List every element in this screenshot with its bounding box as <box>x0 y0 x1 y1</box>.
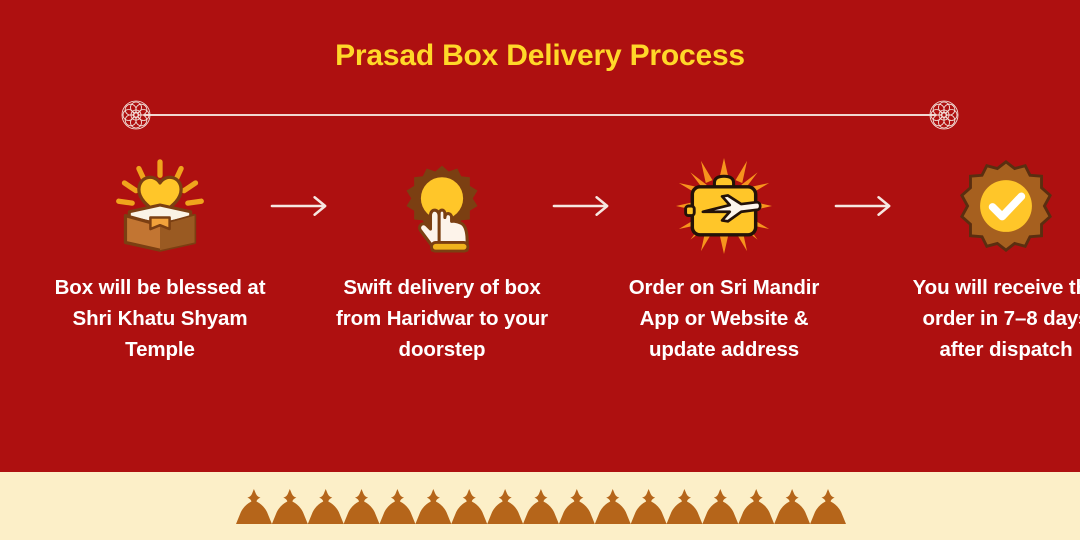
arrow-right-icon <box>264 158 338 254</box>
arrow-right-icon <box>828 158 902 254</box>
process-step-4: You will receive the order in 7–8 days a… <box>902 158 1080 365</box>
rosette-mandala-icon <box>120 99 152 131</box>
suitcase-airplane-icon <box>676 158 772 254</box>
blessed-box-heart-icon <box>112 158 208 254</box>
hand-tap-badge-icon <box>394 158 490 254</box>
checkmark-badge-icon <box>958 158 1054 254</box>
step-caption: Box will be blessed at Shri Khatu Shyam … <box>52 272 268 365</box>
temple-dome-border-icon <box>236 486 846 524</box>
process-step-1: Box will be blessed at Shri Khatu Shyam … <box>56 158 264 365</box>
process-step-3: Order on Sri Mandir App or Website & upd… <box>620 158 828 365</box>
section-divider <box>120 99 960 131</box>
divider-line <box>144 114 936 116</box>
process-step-2: Swift delivery of box from Haridwar to y… <box>338 158 546 365</box>
arrow-right-icon <box>546 158 620 254</box>
page-title: Prasad Box Delivery Process <box>0 36 1080 76</box>
process-steps: Box will be blessed at Shri Khatu Shyam … <box>56 158 1024 383</box>
step-caption: You will receive the order in 7–8 days a… <box>898 272 1080 365</box>
infographic-canvas: Prasad Box Delivery Process <box>0 0 1080 540</box>
step-caption: Swift delivery of box from Haridwar to y… <box>334 272 550 365</box>
rosette-mandala-icon <box>928 99 960 131</box>
step-caption: Order on Sri Mandir App or Website & upd… <box>616 272 832 365</box>
